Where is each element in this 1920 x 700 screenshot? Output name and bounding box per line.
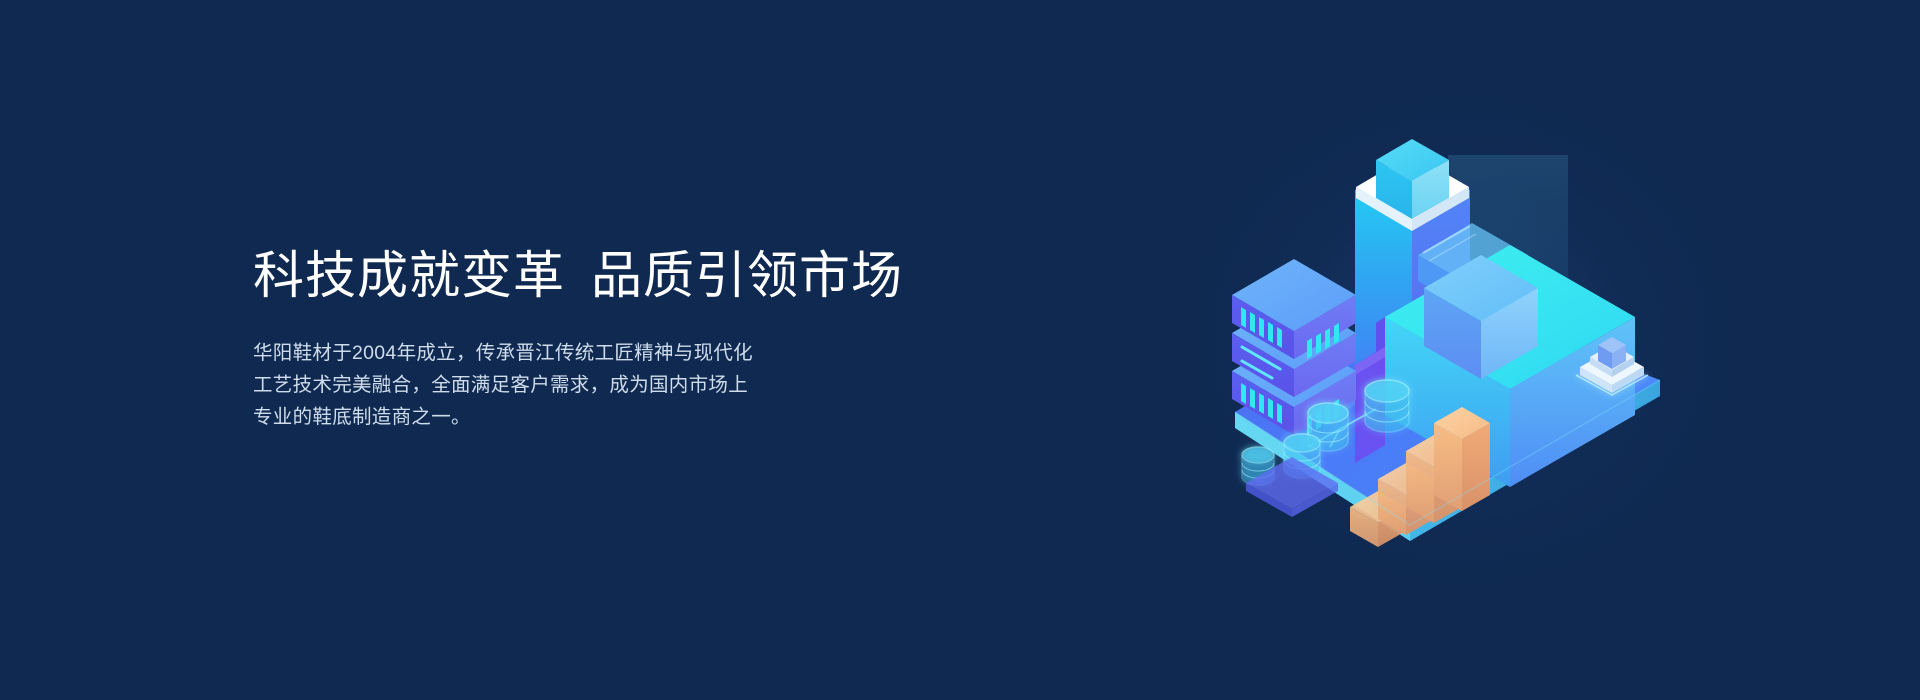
headline-part-2: 品质引领市场 [591, 247, 903, 304]
isometric-city-illustration [1180, 95, 1740, 565]
hero-copy: 科技成就变革品质引领市场 华阳鞋材于2004年成立，传承晋江传统工匠精神与现代化… [253, 245, 953, 433]
db-cylinder-right [1365, 380, 1409, 432]
description-line-1: 华阳鞋材于2004年成立，传承晋江传统工匠精神与现代化 [253, 337, 783, 369]
description-line-2: 工艺技术完美融合，全面满足客户需求，成为国内市场上 [253, 369, 783, 401]
description-line-3: 专业的鞋底制造商之一。 [253, 401, 783, 433]
hero-description: 华阳鞋材于2004年成立，传承晋江传统工匠精神与现代化 工艺技术完美融合，全面满… [253, 307, 783, 433]
headline-part-1: 科技成就变革 [253, 247, 565, 304]
hero-banner: 科技成就变革品质引领市场 华阳鞋材于2004年成立，传承晋江传统工匠精神与现代化… [0, 0, 1920, 700]
page-title: 科技成就变革品质引领市场 [253, 245, 953, 307]
